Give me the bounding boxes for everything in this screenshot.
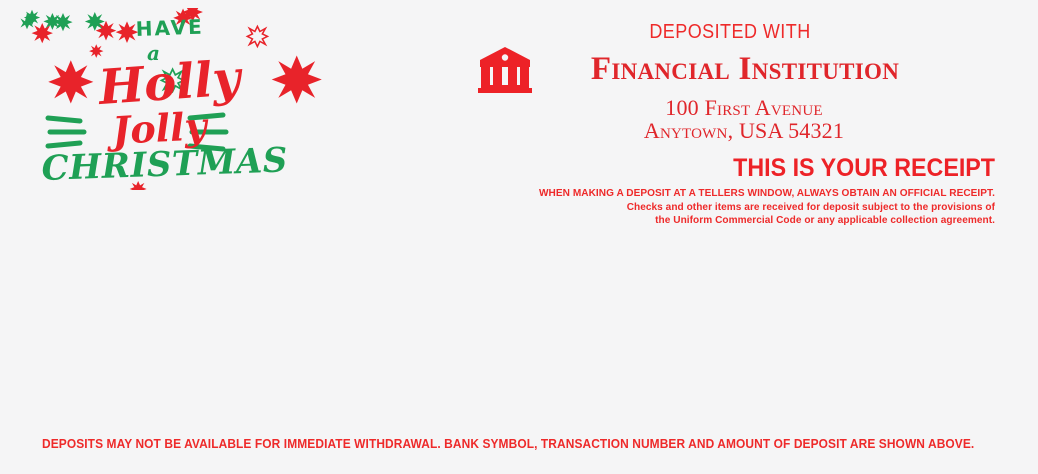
- legal-line-1: WHEN MAKING A DEPOSIT AT A TELLERS WINDO…: [400, 187, 995, 201]
- institution-name: Financial Institution: [460, 46, 1000, 92]
- receipt-headline: THIS IS YOUR RECEIPT: [418, 155, 995, 181]
- holiday-line-have: HAVE: [135, 15, 204, 41]
- bank-header-block: DEPOSITED WITH: [460, 22, 1000, 142]
- deposit-receipt-slip: HAVE a Holly Jolly CHRISTMAS DEPOSITED W…: [0, 0, 1038, 474]
- bank-address-line-1: 100 First Avenue: [460, 96, 1000, 119]
- footer-disclaimer: DEPOSITS MAY NOT BE AVAILABLE FOR IMMEDI…: [42, 437, 974, 451]
- holiday-line-christmas: CHRISTMAS: [41, 140, 289, 189]
- legal-line-3: the Uniform Commercial Code or any appli…: [400, 214, 995, 228]
- bank-identity-row: Financial Institution: [460, 46, 1000, 94]
- receipt-notice-block: THIS IS YOUR RECEIPT WHEN MAKING A DEPOS…: [375, 155, 995, 228]
- bank-building-icon: [478, 46, 532, 94]
- green-stars-group: [18, 8, 105, 31]
- deposited-with-label: DEPOSITED WITH: [487, 22, 973, 42]
- legal-line-2: Checks and other items are received for …: [400, 201, 995, 215]
- bank-address-line-2: Anytown, USA 54321: [460, 119, 1000, 142]
